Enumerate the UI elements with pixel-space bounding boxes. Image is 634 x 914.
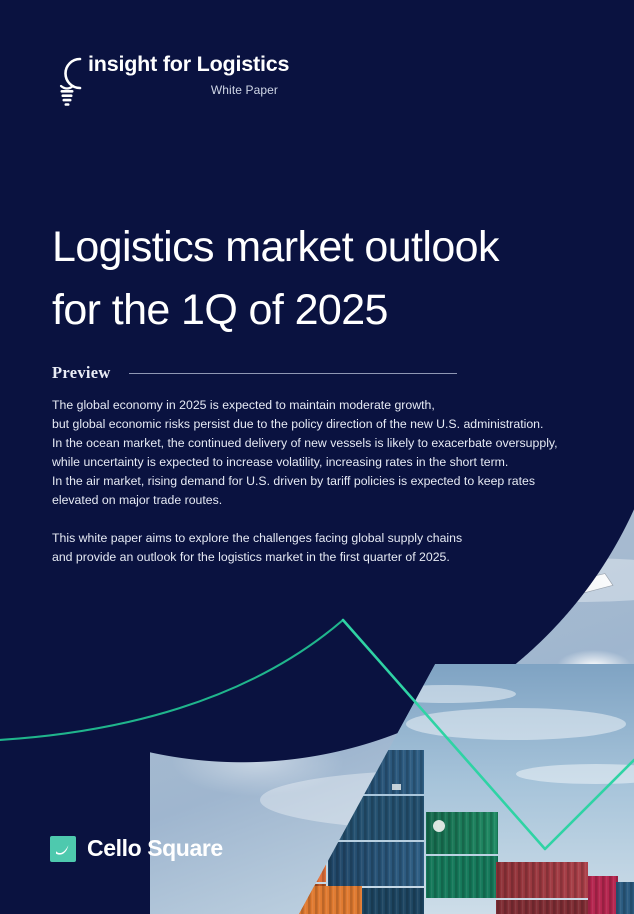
preview-body: The global economy in 2025 is expected t… bbox=[52, 396, 572, 567]
brand-subtitle: White Paper bbox=[145, 83, 278, 97]
cello-square-swoosh-icon bbox=[50, 836, 76, 862]
brand-logo: insight for Logistics White Paper bbox=[50, 52, 290, 110]
cello-square-wordmark: Cello Square bbox=[87, 835, 223, 862]
brand-name: insight for Logistics bbox=[88, 52, 289, 77]
cello-square-logo: Cello Square bbox=[50, 835, 223, 862]
cover-content: insight for Logistics White Paper Logist… bbox=[0, 0, 634, 914]
copy-line: In the ocean market, the continued deliv… bbox=[52, 434, 572, 453]
preview-label: Preview bbox=[52, 363, 111, 383]
copy-line: but global economic risks persist due to… bbox=[52, 415, 572, 434]
copy-line: In the air market, rising demand for U.S… bbox=[52, 472, 572, 491]
copy-line: and provide an outlook for the logistics… bbox=[52, 548, 572, 567]
preview-divider bbox=[129, 373, 457, 374]
copy-line: elevated on major trade routes. bbox=[52, 491, 572, 510]
preview-paragraph-2: This white paper aims to explore the cha… bbox=[52, 529, 572, 567]
copy-line: This white paper aims to explore the cha… bbox=[52, 529, 572, 548]
page-title-line-2: for the 1Q of 2025 bbox=[52, 279, 572, 342]
cover-page: insight for Logistics White Paper Logist… bbox=[0, 0, 634, 914]
preview-paragraph-1: The global economy in 2025 is expected t… bbox=[52, 396, 572, 510]
page-title: Logistics market outlook for the 1Q of 2… bbox=[52, 216, 572, 342]
page-title-line-1: Logistics market outlook bbox=[52, 216, 572, 279]
lightbulb-icon bbox=[50, 52, 84, 110]
copy-line: The global economy in 2025 is expected t… bbox=[52, 396, 572, 415]
paragraph-spacer bbox=[52, 510, 572, 529]
copy-line: while uncertainty is expected to increas… bbox=[52, 453, 572, 472]
preview-heading: Preview bbox=[52, 363, 457, 383]
